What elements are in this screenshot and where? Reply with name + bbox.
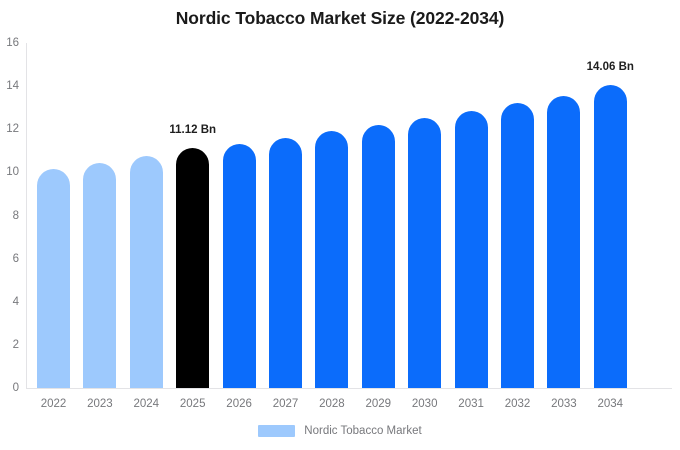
y-axis-tick-label: 2: [13, 339, 19, 351]
bar-value-label-2025: 11.12 Bn: [169, 124, 216, 136]
bar-2033[interactable]: [547, 96, 580, 388]
x-axis-tick-label-2034: 2034: [598, 398, 624, 410]
x-axis-tick-label-2028: 2028: [319, 398, 345, 410]
bar-value-label-2034: 14.06 Bn: [587, 61, 634, 73]
y-axis-tick-label: 4: [13, 296, 19, 308]
bar-chart: Nordic Tobacco Market Size (2022-2034) 0…: [0, 0, 680, 450]
x-axis-tick-label-2022: 2022: [41, 398, 67, 410]
y-axis-tick-label: 14: [6, 80, 19, 92]
y-axis-tick-label: 6: [13, 253, 19, 265]
y-axis-tick-label: 16: [6, 37, 19, 49]
y-axis-tick-label: 8: [13, 210, 19, 222]
bar-2027[interactable]: [269, 138, 302, 388]
bar-2023[interactable]: [83, 163, 116, 388]
x-axis-tick-label-2031: 2031: [458, 398, 484, 410]
x-axis-line: [26, 388, 672, 389]
bar-2025[interactable]: [176, 148, 209, 388]
x-axis-tick-label-2029: 2029: [366, 398, 392, 410]
x-axis-tick-label-2030: 2030: [412, 398, 438, 410]
bar-2022[interactable]: [37, 169, 70, 388]
x-axis-tick-label-2027: 2027: [273, 398, 299, 410]
x-axis-tick-label-2025: 2025: [180, 398, 206, 410]
bar-2034[interactable]: [594, 85, 627, 388]
bar-2032[interactable]: [501, 103, 534, 388]
y-axis-tick-label: 10: [6, 166, 19, 178]
x-axis-tick-label-2032: 2032: [505, 398, 531, 410]
legend-label-nordic-tobacco-market: Nordic Tobacco Market: [304, 425, 421, 437]
y-axis-tick-label: 0: [13, 382, 19, 394]
chart-legend: Nordic Tobacco Market: [0, 425, 680, 437]
x-axis-tick-label-2026: 2026: [226, 398, 252, 410]
x-axis-tick-label-2024: 2024: [134, 398, 160, 410]
x-axis-tick-label-2033: 2033: [551, 398, 577, 410]
x-axis-tick-label-2023: 2023: [87, 398, 113, 410]
bar-2029[interactable]: [362, 125, 395, 388]
bar-2024[interactable]: [130, 156, 163, 388]
bar-2031[interactable]: [455, 111, 488, 388]
bar-2030[interactable]: [408, 118, 441, 388]
bar-2026[interactable]: [223, 144, 256, 388]
bar-2028[interactable]: [315, 131, 348, 388]
y-axis-tick-label: 12: [6, 123, 19, 135]
plot-area: [26, 43, 672, 388]
chart-title: Nordic Tobacco Market Size (2022-2034): [0, 8, 680, 29]
legend-swatch-nordic-tobacco-market: [258, 425, 295, 437]
